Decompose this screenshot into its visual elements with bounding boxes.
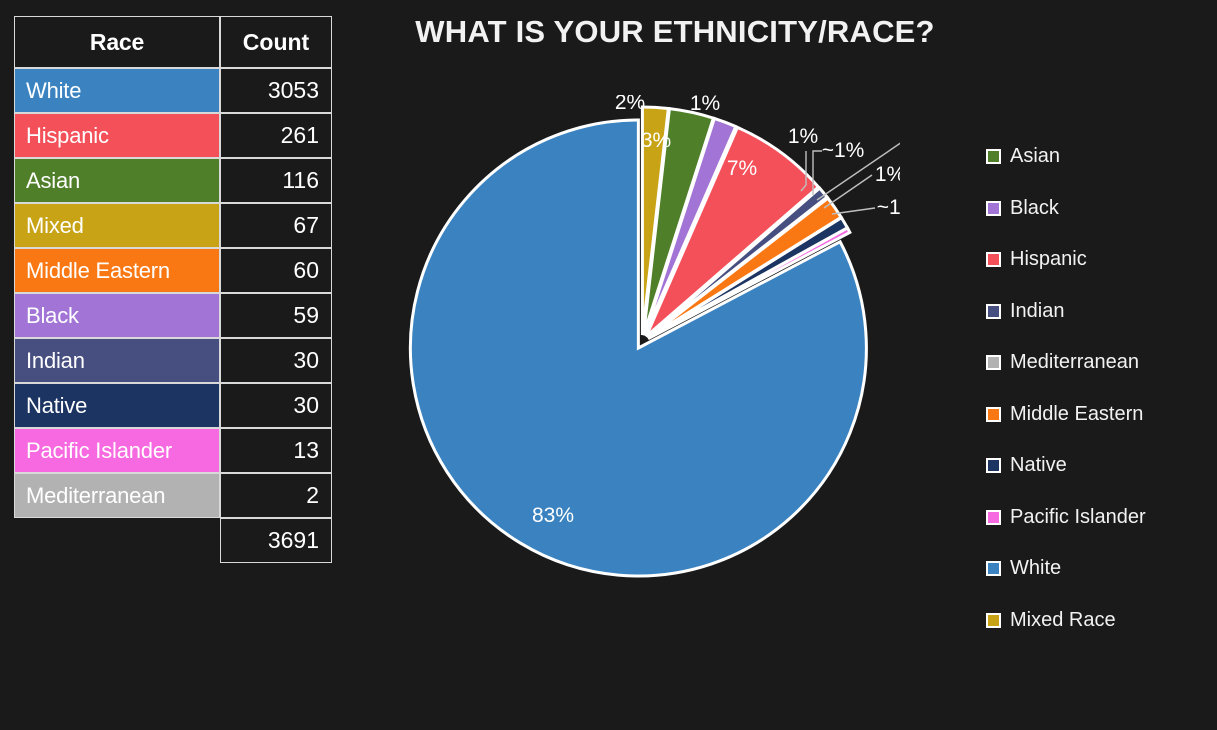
legend-swatch-icon [986,355,1001,370]
pie-chart-svg: 2%3%1%7%1%~1%2%1%~1%83% [400,95,900,595]
table-cell-race: White [14,68,220,113]
legend-label: Indian [1010,300,1065,323]
table-cell-count: 60 [220,248,332,293]
legend-item[interactable]: Asian [986,131,1211,183]
pie-data-label: 3% [641,129,671,152]
table-cell-count: 59 [220,293,332,338]
table-cell-race: Native [14,383,220,428]
legend-item[interactable]: Middle Eastern [986,389,1211,441]
legend-item[interactable]: Hispanic [986,234,1211,286]
pie-data-label: 83% [532,504,574,527]
pie-chart: 2%3%1%7%1%~1%2%1%~1%83% [400,95,900,595]
legend-item[interactable]: Black [986,183,1211,235]
legend-item[interactable]: Native [986,440,1211,492]
legend-swatch-icon [986,458,1001,473]
table-cell-count: 3053 [220,68,332,113]
legend-label: Black [1010,197,1059,220]
legend-label: Pacific Islander [1010,506,1146,529]
table-cell-count: 67 [220,203,332,248]
legend-label: Hispanic [1010,248,1087,271]
table-cell-race: Hispanic [14,113,220,158]
legend-label: Mixed Race [1010,609,1116,632]
legend-label: Asian [1010,145,1060,168]
table-cell-race: Asian [14,158,220,203]
pie-data-label: ~1% [822,139,865,162]
pie-slice-group [410,107,866,576]
table-cell-count: 30 [220,338,332,383]
legend-swatch-icon [986,149,1001,164]
table-header-race: Race [14,16,220,68]
chart-legend: AsianBlackHispanicIndianMediterraneanMid… [986,131,1211,646]
pie-data-label: ~1% [877,196,900,219]
table-cell-race: Mediterranean [14,473,220,518]
legend-item[interactable]: White [986,543,1211,595]
table-cell-race: Pacific Islander [14,428,220,473]
pie-data-label: 7% [727,157,757,180]
table-header-count: Count [220,16,332,68]
legend-label: Native [1010,454,1067,477]
legend-swatch-icon [986,407,1001,422]
legend-swatch-icon [986,561,1001,576]
legend-swatch-icon [986,201,1001,216]
legend-swatch-icon [986,613,1001,628]
table-cell-count: 2 [220,473,332,518]
table-cell-count: 116 [220,158,332,203]
chart-title: WHAT IS YOUR ETHNICITY/RACE? [360,14,990,50]
table-cell-count: 261 [220,113,332,158]
legend-item[interactable]: Mixed Race [986,595,1211,647]
pie-leader-line [824,175,872,208]
legend-label: White [1010,557,1061,580]
legend-item[interactable]: Pacific Islander [986,492,1211,544]
legend-item[interactable]: Mediterranean [986,337,1211,389]
table-cell-race: Indian [14,338,220,383]
legend-swatch-icon [986,510,1001,525]
legend-label: Middle Eastern [1010,403,1143,426]
legend-item[interactable]: Indian [986,286,1211,338]
table-cell-count: 13 [220,428,332,473]
table-cell-race: Black [14,293,220,338]
table-cell-race: Middle Eastern [14,248,220,293]
legend-swatch-icon [986,252,1001,267]
legend-swatch-icon [986,304,1001,319]
pie-data-label: 1% [690,95,720,115]
table-cell-count: 30 [220,383,332,428]
legend-label: Mediterranean [1010,351,1139,374]
pie-data-label: 1% [788,125,818,148]
pie-data-label: 1% [875,163,900,186]
pie-data-label: 2% [615,95,645,114]
table-cell-race: Mixed [14,203,220,248]
table-total-count: 3691 [220,518,332,563]
